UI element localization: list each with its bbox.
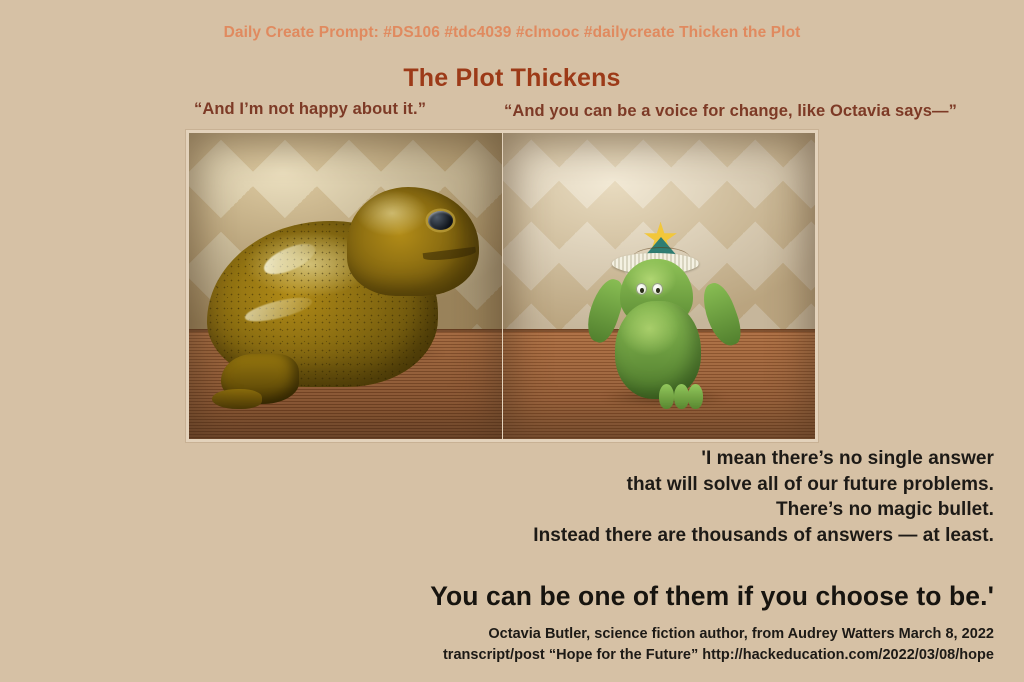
attribution-line-2: transcript/post “Hope for the Future” ht… — [274, 645, 994, 666]
frog-pupil-left — [640, 288, 644, 293]
poster-canvas: Daily Create Prompt: #DS106 #tdc4039 #cl… — [0, 0, 1024, 682]
caption-left: “And I’m not happy about it.” — [194, 100, 426, 119]
attribution-line-1: Octavia Butler, science fiction author, … — [274, 624, 994, 645]
photo-strip: joy — [186, 130, 818, 442]
frog-pupil-right — [656, 288, 660, 293]
toad-front-foot — [212, 389, 263, 409]
quote-block: 'I mean there’s no single answer that wi… — [434, 446, 994, 548]
caption-row: “And I’m not happy about it.” “And you c… — [186, 100, 996, 126]
frog-eye-right — [652, 283, 663, 295]
quote-line: There’s no magic bullet. — [434, 497, 994, 523]
frog-eye-left — [636, 283, 647, 295]
toad-head — [347, 187, 479, 296]
quote-line: that will solve all of our future proble… — [434, 472, 994, 498]
quote-line: Instead there are thousands of answers —… — [434, 523, 994, 549]
attribution-block: Octavia Butler, science fiction author, … — [274, 624, 994, 666]
daily-create-prompt-line: Daily Create Prompt: #DS106 #tdc4039 #cl… — [0, 24, 1024, 42]
frog-figurine: joy — [596, 210, 727, 400]
frog-toe — [674, 384, 689, 409]
photo-ceramic-toad-figurine — [189, 133, 502, 439]
frog-toes — [659, 384, 704, 409]
caption-right: “And you can be a voice for change, like… — [504, 102, 957, 121]
quote-line: 'I mean there’s no single answer — [434, 446, 994, 472]
quote-punchline: You can be one of them if you choose to … — [294, 581, 994, 612]
toad-eye — [428, 211, 453, 230]
page-title: The Plot Thickens — [0, 64, 1024, 93]
toad-figurine — [202, 185, 477, 387]
frog-toe — [688, 384, 703, 409]
toad-mouth — [422, 247, 475, 262]
photo-green-frog-with-christmas-tree: joy — [503, 133, 816, 439]
frog-toe — [659, 384, 674, 409]
